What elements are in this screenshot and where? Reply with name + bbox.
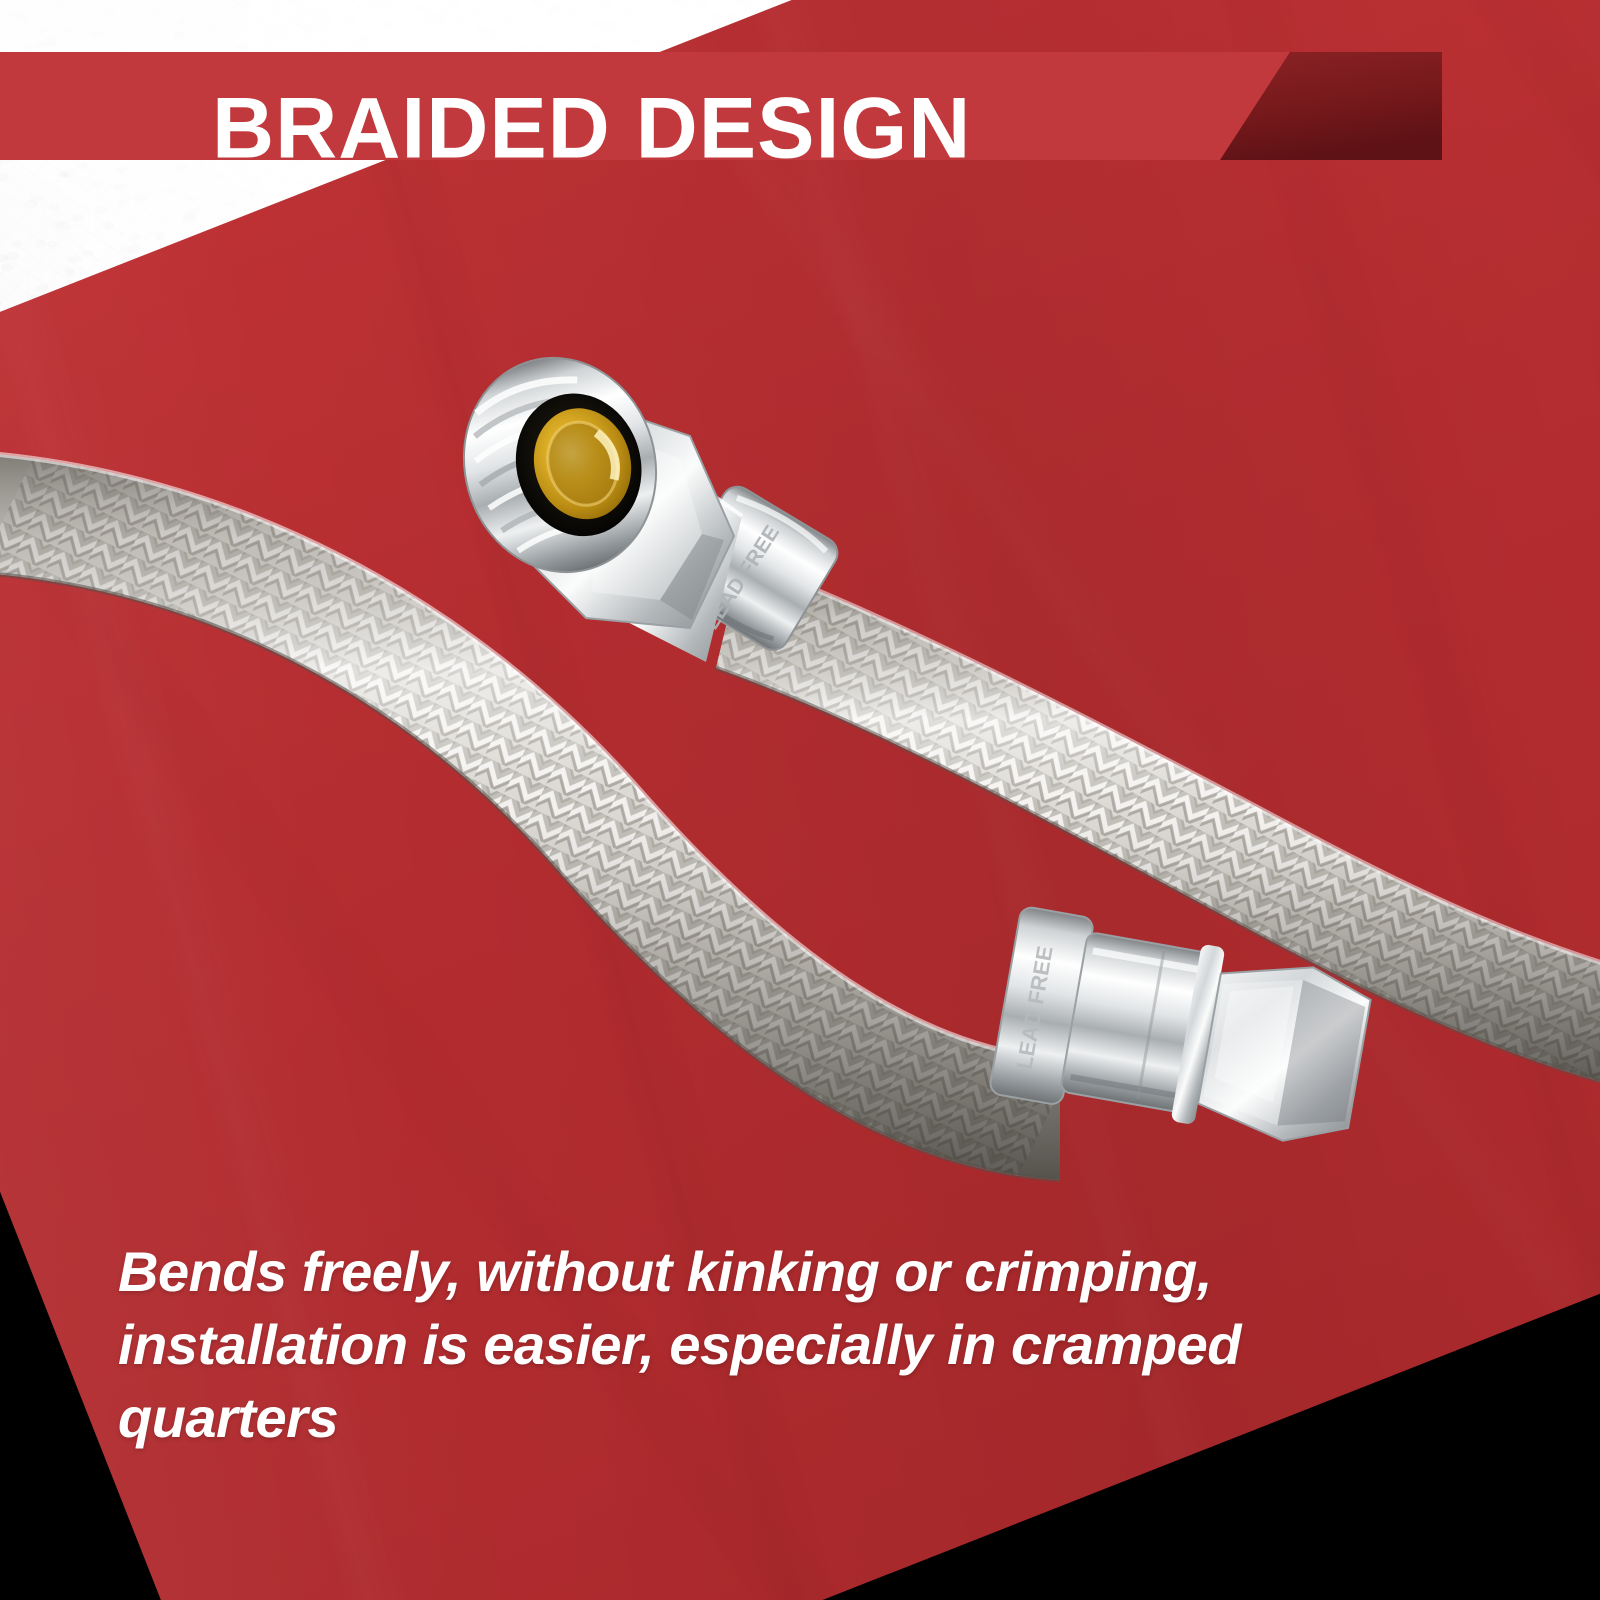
caption-line-3: quarters — [118, 1382, 1418, 1455]
product-infographic-canvas: LEAD FREE — [0, 0, 1600, 1600]
caption-line-1: Bends freely, without kinking or crimpin… — [118, 1236, 1418, 1309]
banner-ribbon: BRAIDED DESIGN — [0, 52, 1442, 207]
page-title: BRAIDED DESIGN — [212, 85, 971, 171]
upper-fitting-assembly: LEAD FREE — [439, 335, 843, 666]
feature-caption: Bends freely, without kinking or crimpin… — [118, 1236, 1418, 1454]
caption-line-2: installation is easier, especially in cr… — [118, 1309, 1418, 1382]
